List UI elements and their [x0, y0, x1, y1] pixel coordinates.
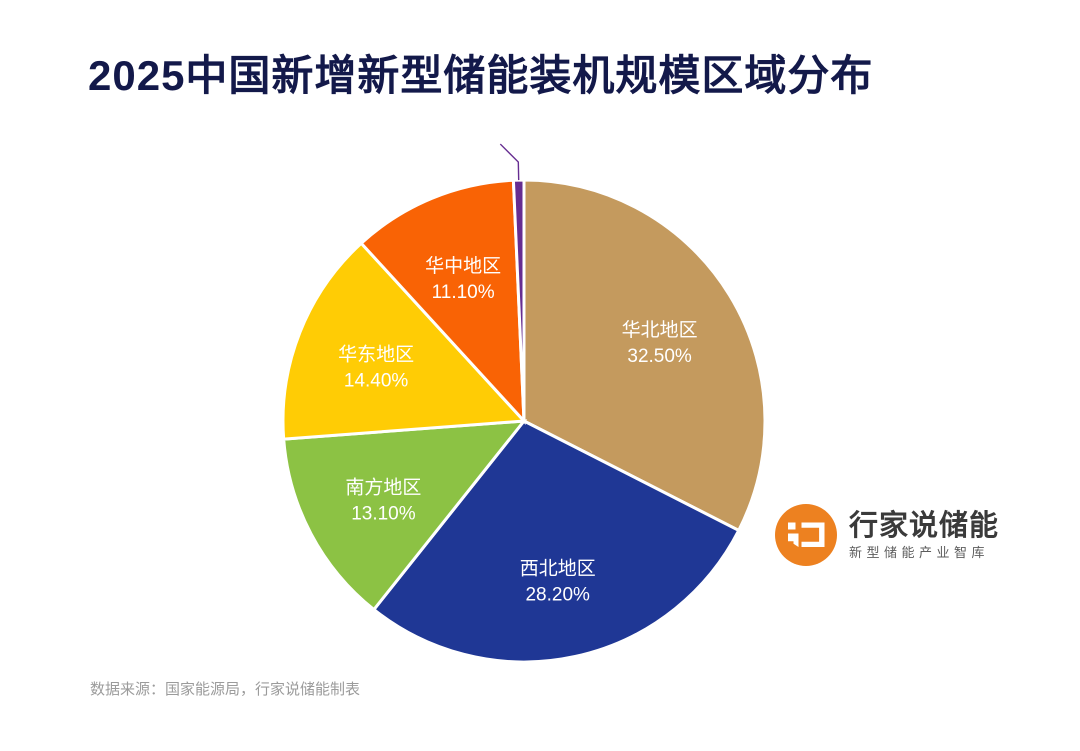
- source-note: 数据来源：国家能源局，行家说储能制表: [90, 678, 360, 699]
- callout-leader-line: [500, 144, 518, 180]
- page-title: 2025中国新增新型储能装机规模区域分布: [88, 52, 873, 100]
- pie-slices: [283, 180, 765, 662]
- logo-title: 行家说储能: [849, 510, 999, 542]
- logo-text: 行家说储能 新型储能产业智库: [849, 508, 999, 562]
- callout-leader-lines: [500, 144, 518, 180]
- pie-chart: 华北地区32.50%西北地区28.20%南方地区13.10%华东地区14.40%…: [0, 140, 1080, 685]
- hangjiashuo-speech-bubble-mark-icon: [775, 504, 837, 566]
- pie-chart-svg: 华北地区32.50%西北地区28.20%南方地区13.10%华东地区14.40%…: [0, 140, 1080, 685]
- logo-subtitle: 新型储能产业智库: [849, 545, 999, 562]
- brand-logo: 行家说储能 新型储能产业智库: [775, 496, 990, 574]
